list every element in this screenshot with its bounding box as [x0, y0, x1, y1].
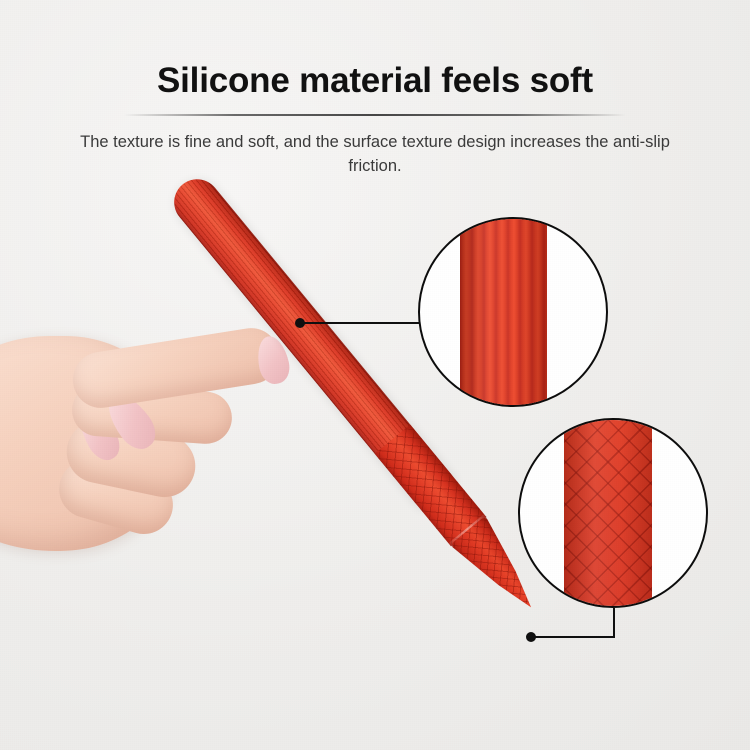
product-feature-image: Silicone material feels soft The texture…	[0, 0, 750, 750]
callout-leader-lower-vertical	[613, 608, 616, 638]
texture-swatch-diamond-crosshatch	[564, 418, 652, 608]
product-scene	[0, 0, 750, 750]
callout-leader-lower-horizontal	[531, 636, 615, 639]
hand-holding-stylus	[0, 318, 300, 618]
callout-leader-upper	[300, 322, 420, 325]
texture-swatch-vertical-ribs	[460, 217, 547, 407]
callout-circle-upper	[418, 217, 608, 407]
callout-circle-lower	[518, 418, 708, 608]
